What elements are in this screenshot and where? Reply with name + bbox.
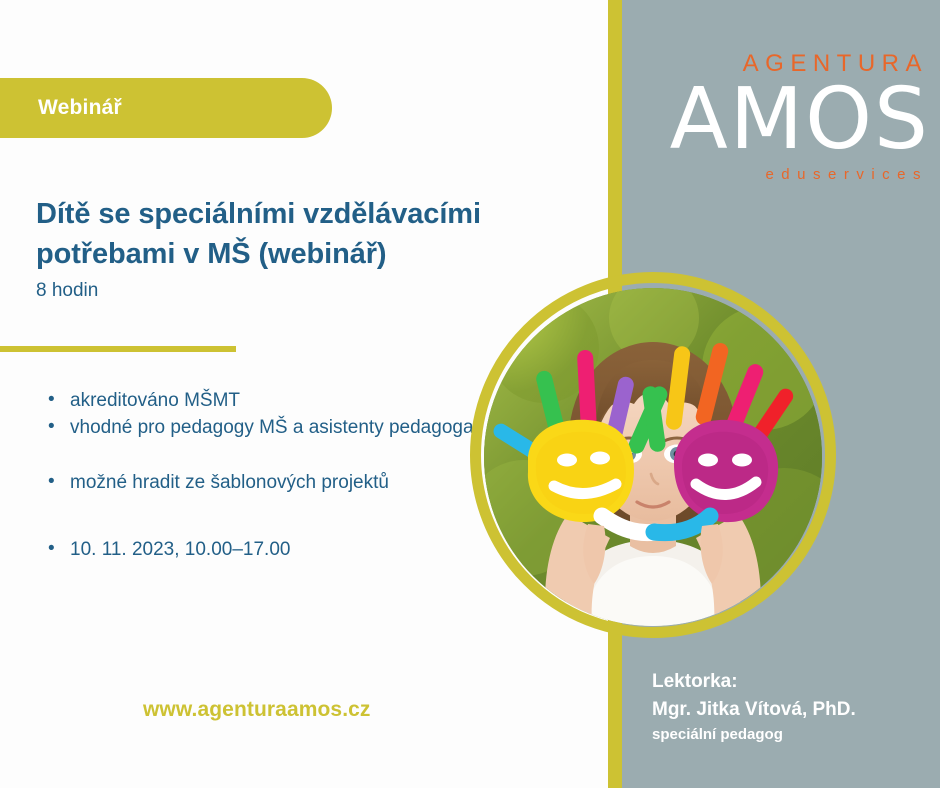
- course-duration: 8 hodin: [36, 280, 556, 302]
- lecturer-role: speciální pedagog: [652, 724, 856, 747]
- list-item: vhodné pro pedagogy MŠ a asistenty pedag…: [44, 415, 474, 442]
- lecturer-name: Mgr. Jitka Vítová, PhD.: [652, 696, 856, 724]
- list-item: možné hradit ze šablonových projektů: [44, 470, 474, 497]
- logo-main-text: AMOS: [640, 80, 930, 161]
- webinar-badge-label: Webinář: [38, 96, 122, 120]
- page-title: Dítě se speciálními vzdělávacími potřeba…: [36, 195, 556, 274]
- child-with-painted-hands-illustration: [484, 288, 822, 626]
- lecturer-block: Lektorka: Mgr. Jitka Vítová, PhD. speciá…: [652, 668, 856, 747]
- promo-poster: Webinář Dítě se speciálními vzdělávacími…: [0, 0, 940, 788]
- headline-block: Dítě se speciálními vzdělávacími potřeba…: [36, 195, 556, 302]
- webinar-badge: Webinář: [0, 78, 332, 138]
- amos-logo: AGENTURA AMOS eduservices: [640, 52, 930, 182]
- yellow-divider: [0, 346, 236, 352]
- list-item-date: 10. 11. 2023, 10.00–17.00: [44, 537, 474, 564]
- lecturer-label: Lektorka:: [652, 668, 856, 696]
- logo-sub-text: eduservices: [640, 167, 930, 182]
- list-item: akreditováno MŠMT: [44, 388, 474, 415]
- website-url[interactable]: www.agenturaamos.cz: [143, 698, 371, 722]
- child-photo: [484, 288, 822, 626]
- feature-list: akreditováno MŠMT vhodné pro pedagogy MŠ…: [44, 388, 474, 564]
